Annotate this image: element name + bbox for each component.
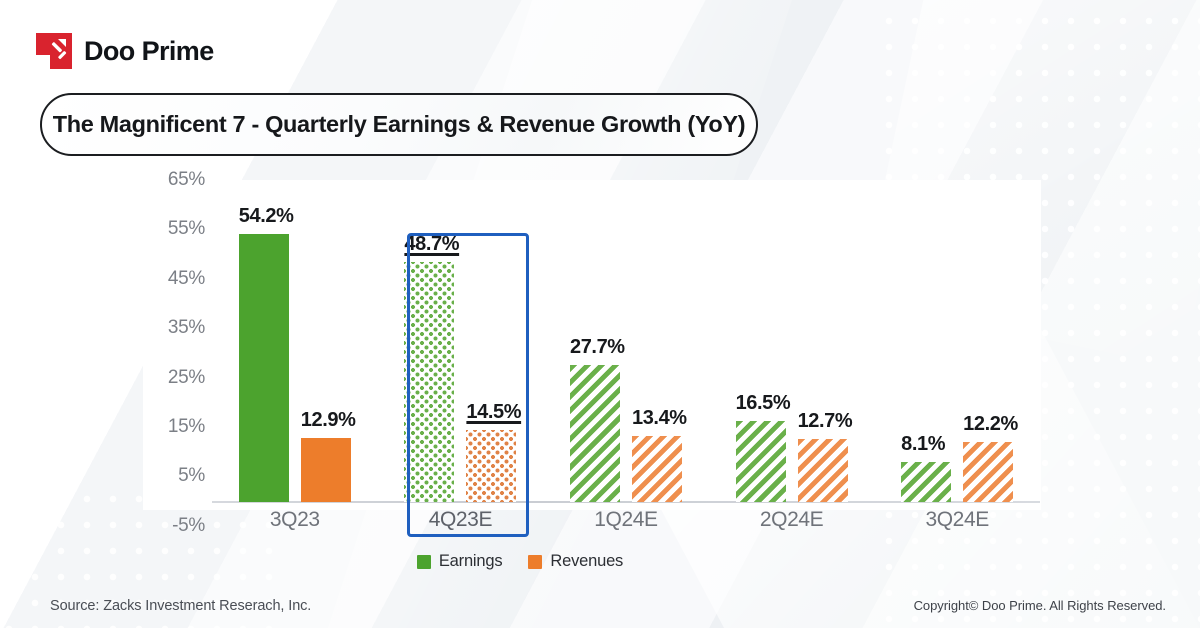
bar-column: 27.7% <box>570 180 620 502</box>
bar-value-label: 27.7% <box>570 336 625 359</box>
infographic-canvas: Doo Prime The Magnificent 7 - Quarterly … <box>0 0 1200 628</box>
bar-column: 12.2% <box>963 180 1013 502</box>
legend-item-earnings[interactable]: Earnings <box>417 552 503 571</box>
page-title: The Magnificent 7 - Quarterly Earnings &… <box>53 111 745 138</box>
bar-value-label: 12.9% <box>301 409 356 432</box>
bar-group: 54.2%12.9% <box>212 180 378 502</box>
y-axis-tick: 25% <box>168 367 205 389</box>
bar-column: 12.7% <box>798 180 848 502</box>
legend-item-revenues[interactable]: Revenues <box>528 552 623 571</box>
copyright-note: Copyright© Doo Prime. All Rights Reserve… <box>914 598 1166 613</box>
y-axis-tick: -5% <box>172 515 205 537</box>
bar-earnings-2q24e[interactable]: 16.5% <box>736 421 786 502</box>
y-axis-tick: 55% <box>168 218 205 240</box>
y-axis-tick: 45% <box>168 268 205 290</box>
y-axis-tick: 15% <box>168 416 205 438</box>
bar-group-bars: 27.7%13.4% <box>543 180 709 502</box>
x-axis-label-4q23e: 4Q23E <box>378 508 544 540</box>
bar-group: 8.1%12.2% <box>874 180 1040 502</box>
bar-group: 27.7%13.4% <box>543 180 709 502</box>
bar-group: 16.5%12.7% <box>709 180 875 502</box>
bar-value-label: 54.2% <box>239 205 294 228</box>
source-note: Source: Zacks Investment Reserach, Inc. <box>50 598 311 614</box>
bar-value-label: 12.2% <box>963 413 1018 436</box>
bar-earnings-1q24e[interactable]: 27.7% <box>570 365 620 502</box>
bar-value-label: 14.5% <box>466 401 521 424</box>
bar-group-bars: 16.5%12.7% <box>709 180 875 502</box>
bar-value-label: 8.1% <box>901 433 945 456</box>
bar-column: 54.2% <box>239 180 289 502</box>
x-axis-labels: 3Q234Q23E1Q24E2Q24E3Q24E <box>212 508 1040 540</box>
legend-swatch-icon <box>417 555 431 569</box>
y-axis-tick: 65% <box>168 169 205 191</box>
bar-group: 48.7%14.5% <box>378 180 544 502</box>
y-axis-tick: 35% <box>168 317 205 339</box>
brand-logo: Doo Prime <box>36 33 214 69</box>
bar-value-label: 13.4% <box>632 407 687 430</box>
legend-label: Earnings <box>439 552 503 571</box>
x-axis-label-1q24e: 1Q24E <box>543 508 709 540</box>
bar-group-bars: 8.1%12.2% <box>874 180 1040 502</box>
bar-column: 16.5% <box>736 180 786 502</box>
bar-value-label: 12.7% <box>798 410 853 433</box>
bar-column: 14.5% <box>466 180 516 502</box>
bar-earnings-3q24e[interactable]: 8.1% <box>901 462 951 502</box>
x-axis-label-3q24e: 3Q24E <box>874 508 1040 540</box>
bar-revenues-3q24e[interactable]: 12.2% <box>963 442 1013 502</box>
bar-revenues-1q24e[interactable]: 13.4% <box>632 436 682 502</box>
bar-column: 8.1% <box>901 180 951 502</box>
bar-revenues-2q24e[interactable]: 12.7% <box>798 439 848 502</box>
brand-name: Doo Prime <box>84 36 214 67</box>
chart-legend: EarningsRevenues <box>0 552 1040 571</box>
bar-revenues-4q23e[interactable]: 14.5% <box>466 430 516 502</box>
bar-value-label: 48.7% <box>404 233 459 256</box>
bar-column: 48.7% <box>404 180 454 502</box>
bar-group-bars: 54.2%12.9% <box>212 180 378 502</box>
bar-earnings-4q23e[interactable]: 48.7% <box>404 262 454 503</box>
bar-group-bars: 48.7%14.5% <box>378 180 544 502</box>
y-axis: 65%55%45%35%25%15%5%-5% <box>143 180 211 510</box>
bar-value-label: 16.5% <box>736 392 791 415</box>
y-axis-tick: 5% <box>178 465 205 487</box>
legend-swatch-icon <box>528 555 542 569</box>
bar-earnings-3q23[interactable]: 54.2% <box>239 234 289 502</box>
x-axis-label-3q23: 3Q23 <box>212 508 378 540</box>
doo-prime-mark-icon <box>36 33 72 69</box>
x-axis-label-2q24e: 2Q24E <box>709 508 875 540</box>
title-banner: The Magnificent 7 - Quarterly Earnings &… <box>40 93 758 156</box>
bar-revenues-3q23[interactable]: 12.9% <box>301 438 351 502</box>
bar-column: 13.4% <box>632 180 682 502</box>
legend-label: Revenues <box>550 552 623 571</box>
bar-groups: 54.2%12.9%48.7%14.5%27.7%13.4%16.5%12.7%… <box>212 180 1040 502</box>
bar-column: 12.9% <box>301 180 351 502</box>
